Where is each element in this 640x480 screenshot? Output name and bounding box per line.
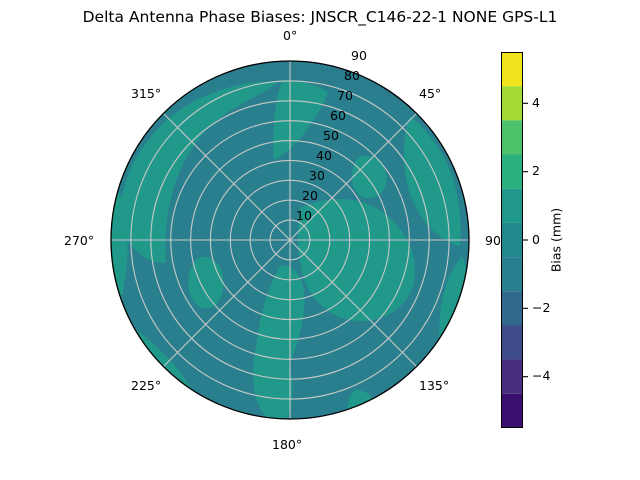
radial-tick-40: 40 [316,148,332,163]
radial-tick-10: 10 [296,208,312,223]
azimuth-tick-45: 45° [419,86,441,101]
chart-title: Delta Antenna Phase Biases: JNSCR_C146-2… [0,8,640,26]
colorbar-bands [501,52,523,428]
azimuth-tick-90: 90 [485,233,501,248]
azimuth-tick-225: 225° [131,378,161,393]
radial-tick-70: 70 [337,88,353,103]
colorbar-tick-minus2: −2 [532,300,550,315]
radial-tick-80: 80 [344,68,360,83]
azimuth-tick-180: 180° [272,437,302,452]
colorbar-axis-label: Bias (mm) [549,208,564,272]
radial-tick-30: 30 [309,168,325,183]
radial-tick-60: 60 [330,108,346,123]
azimuth-tick-0: 0° [283,28,297,43]
figure-canvas: Delta Antenna Phase Biases: JNSCR_C146-2… [0,0,640,480]
radial-tick-20: 20 [302,188,318,203]
colorbar-tick-2: 2 [532,163,540,178]
colorbar-tick-4: 4 [532,95,540,110]
radial-tick-50: 50 [323,128,339,143]
colorbar-gradient [501,52,523,428]
polar-grid [111,61,469,419]
azimuth-tick-270: 270° [64,233,94,248]
colorbar[interactable]: 4 2 0 −2 −4 [501,52,523,428]
azimuth-tick-315: 315° [131,86,161,101]
colorbar-tick-minus4: −4 [532,368,550,383]
polar-contour-plot [110,60,470,420]
colorbar-tick-0: 0 [532,232,540,247]
polar-plot-area[interactable]: 10 20 30 40 50 60 70 80 90 [110,60,470,420]
azimuth-tick-135: 135° [419,378,449,393]
radial-tick-90: 90 [351,48,367,63]
